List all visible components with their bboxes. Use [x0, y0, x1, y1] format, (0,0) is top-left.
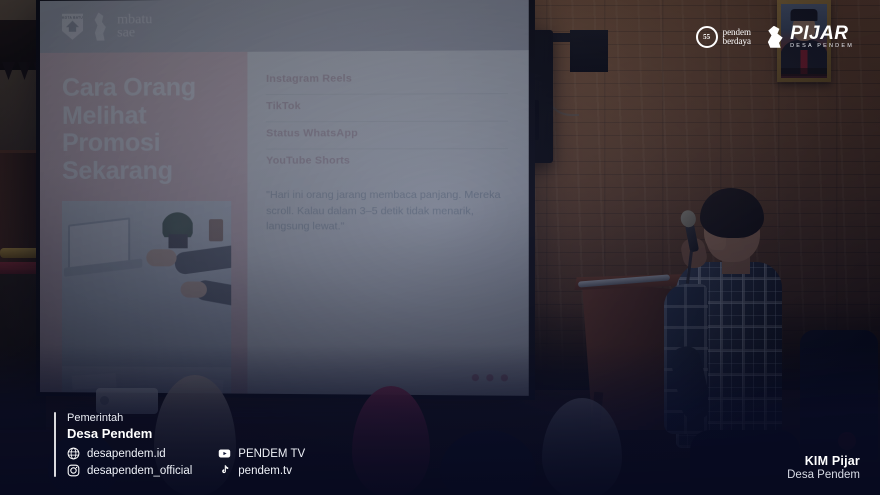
- pijar-logo: PIJAR DESA PENDEM: [765, 24, 854, 50]
- social-handles: desapendem.id desapendem_official: [67, 447, 305, 477]
- government-label: Pemerintah: [67, 412, 305, 426]
- village-name: Desa Pendem: [67, 426, 305, 442]
- slide-left-panel: Cara Orang Melihat Promosi Sekarang: [40, 52, 248, 394]
- slide-title: Cara Orang Melihat Promosi Sekarang: [40, 52, 248, 195]
- bottom-right-credit: KIM Pijar Desa Pendem: [787, 454, 860, 481]
- pijar-flame-icon: [765, 26, 785, 48]
- platform-list: Instagram Reels TikTok Status WhatsApp Y…: [266, 67, 508, 176]
- projection-screen: KOTA BATU mbatu sae Cara Orang Melihat P…: [36, 0, 535, 400]
- chair: [690, 430, 800, 495]
- slide-photo-desk: [62, 201, 232, 394]
- list-item: Instagram Reels: [266, 67, 508, 95]
- handle-youtube[interactable]: PENDEM TV: [218, 447, 305, 460]
- credit-subtitle: Desa Pendem: [787, 469, 860, 481]
- credit-name: KIM Pijar: [787, 454, 860, 468]
- kota-batu-emblem-label: KOTA BATU: [62, 16, 83, 20]
- slide-quote: "Hari ini orang jarang membaca panjang. …: [266, 188, 508, 235]
- pijar-subtitle: DESA PENDEM: [790, 44, 854, 50]
- seal-icon: 55: [696, 26, 718, 48]
- youtube-icon: [218, 447, 231, 460]
- handle-website-label: desapendem.id: [87, 448, 166, 460]
- presenter-arm: [664, 284, 708, 434]
- list-item: Status WhatsApp: [266, 122, 508, 150]
- handle-instagram-label: desapendem_official: [87, 465, 192, 477]
- screenshot-stage: KOTA BATU mbatu sae Cara Orang Melihat P…: [0, 0, 880, 495]
- berdaya-line2: berdaya: [723, 37, 752, 46]
- list-item: TikTok: [266, 94, 508, 122]
- instagram-icon: [67, 464, 80, 477]
- chair-accent: [838, 432, 856, 450]
- slide-brand-bar: KOTA BATU mbatu sae: [40, 0, 529, 53]
- audience-member: [440, 430, 536, 495]
- projector-lens-icon: [100, 396, 109, 405]
- top-right-logos: 55 pendem berdaya PIJAR DESA PENDEM: [696, 24, 854, 50]
- tiktok-icon: [218, 464, 231, 477]
- kota-batu-emblem-icon: KOTA BATU: [62, 14, 83, 40]
- slide-right-panel: Instagram Reels TikTok Status WhatsApp Y…: [248, 50, 529, 396]
- mbatu-sae-wordmark: mbatu sae: [117, 13, 152, 40]
- audience-member: [352, 386, 430, 495]
- handle-instagram[interactable]: desapendem_official: [67, 464, 192, 477]
- pijar-name: PIJAR: [790, 24, 854, 43]
- presentation-slide: KOTA BATU mbatu sae Cara Orang Melihat P…: [40, 0, 529, 396]
- handle-tiktok[interactable]: pendem.tv: [218, 464, 305, 477]
- handle-website[interactable]: desapendem.id: [67, 447, 192, 460]
- presenter-hair: [700, 188, 764, 238]
- list-item: YouTube Shorts: [266, 149, 508, 176]
- globe-icon: [67, 447, 80, 460]
- mbatu-sae-mark-icon: [92, 12, 108, 40]
- presenter-person: [660, 188, 790, 448]
- seal-text: 55: [703, 33, 710, 41]
- slide-decor-dots: [472, 374, 508, 385]
- pendem-berdaya-logo: 55 pendem berdaya: [696, 26, 752, 48]
- handle-tiktok-label: pendem.tv: [238, 465, 292, 477]
- pendem-berdaya-wordmark: pendem berdaya: [723, 28, 752, 46]
- lower-third-branding: Pemerintah Desa Pendem desapendem.id: [54, 412, 305, 477]
- mbatu-line2: sae: [117, 26, 152, 40]
- handle-youtube-label: PENDEM TV: [238, 448, 305, 460]
- branding-divider: [54, 412, 56, 477]
